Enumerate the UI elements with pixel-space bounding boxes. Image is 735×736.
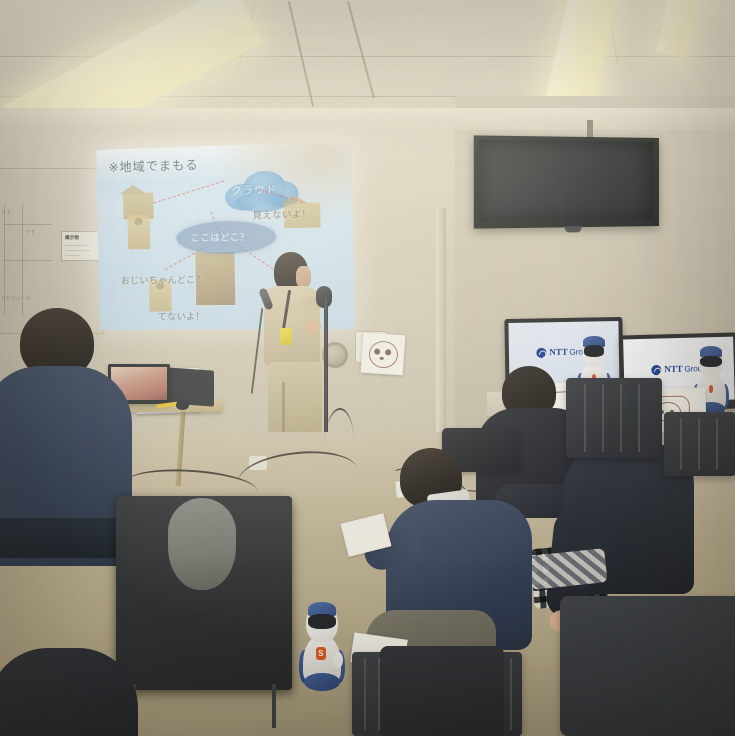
card-stand-pole (382, 372, 385, 418)
ntt-brand: NTT (549, 347, 568, 357)
ceiling-light-fixture (656, 0, 702, 58)
audience-person-left-foreground (0, 308, 128, 558)
ntt-circle-icon (651, 365, 661, 375)
panda-face-card (361, 333, 406, 376)
speech-oval-label: ここはどこ？ (191, 230, 250, 244)
slide-title: ※地域でまもる (108, 156, 198, 176)
robot-visor (700, 356, 722, 368)
wall-mounted-display[interactable] (474, 135, 659, 228)
slide-caption-bottom: てないよ！ (158, 309, 206, 322)
id-badge (280, 328, 292, 345)
presenter-face (296, 266, 311, 288)
grey-hoodie (116, 496, 292, 690)
computer-mouse[interactable] (176, 400, 189, 410)
hoodie-hood (168, 498, 236, 590)
ntt-brand: NTT (664, 364, 683, 375)
photo-scene: メモ デモ スケジュール 掲示物 ―――――― ――――――― ―――― ※地域… (0, 0, 735, 736)
robot-visor (308, 614, 335, 629)
laptop[interactable] (166, 367, 214, 406)
whiteboard-note: スケジュール (1, 296, 31, 302)
wall-pillar (436, 208, 446, 440)
tv-screen (479, 140, 653, 221)
dark-jacket (380, 646, 504, 736)
chair-with-jacket[interactable] (352, 652, 522, 736)
whiteboard-note: メモ (1, 210, 11, 216)
robot-hand-ball (333, 652, 343, 668)
chair-background[interactable] (566, 378, 662, 458)
tv-control-nub (565, 226, 582, 232)
chair-right-foreground[interactable] (560, 596, 735, 736)
slide-caption-left: おじいちゃんどこ？ (121, 273, 206, 287)
whiteboard-note: デモ (25, 230, 35, 236)
robot-badge: S (316, 647, 326, 660)
cloud-label: クラウド (231, 181, 277, 198)
chair-background[interactable] (664, 412, 735, 476)
slide-caption-right: 見えないよ！ (252, 207, 311, 222)
sota-robot-floor[interactable]: S (303, 604, 341, 686)
robot-visor (584, 345, 604, 356)
person-illustration (127, 215, 150, 250)
ntt-circle-icon (536, 348, 546, 358)
wall-upper-band (0, 108, 735, 130)
chair-with-hoodie[interactable] (116, 496, 292, 690)
